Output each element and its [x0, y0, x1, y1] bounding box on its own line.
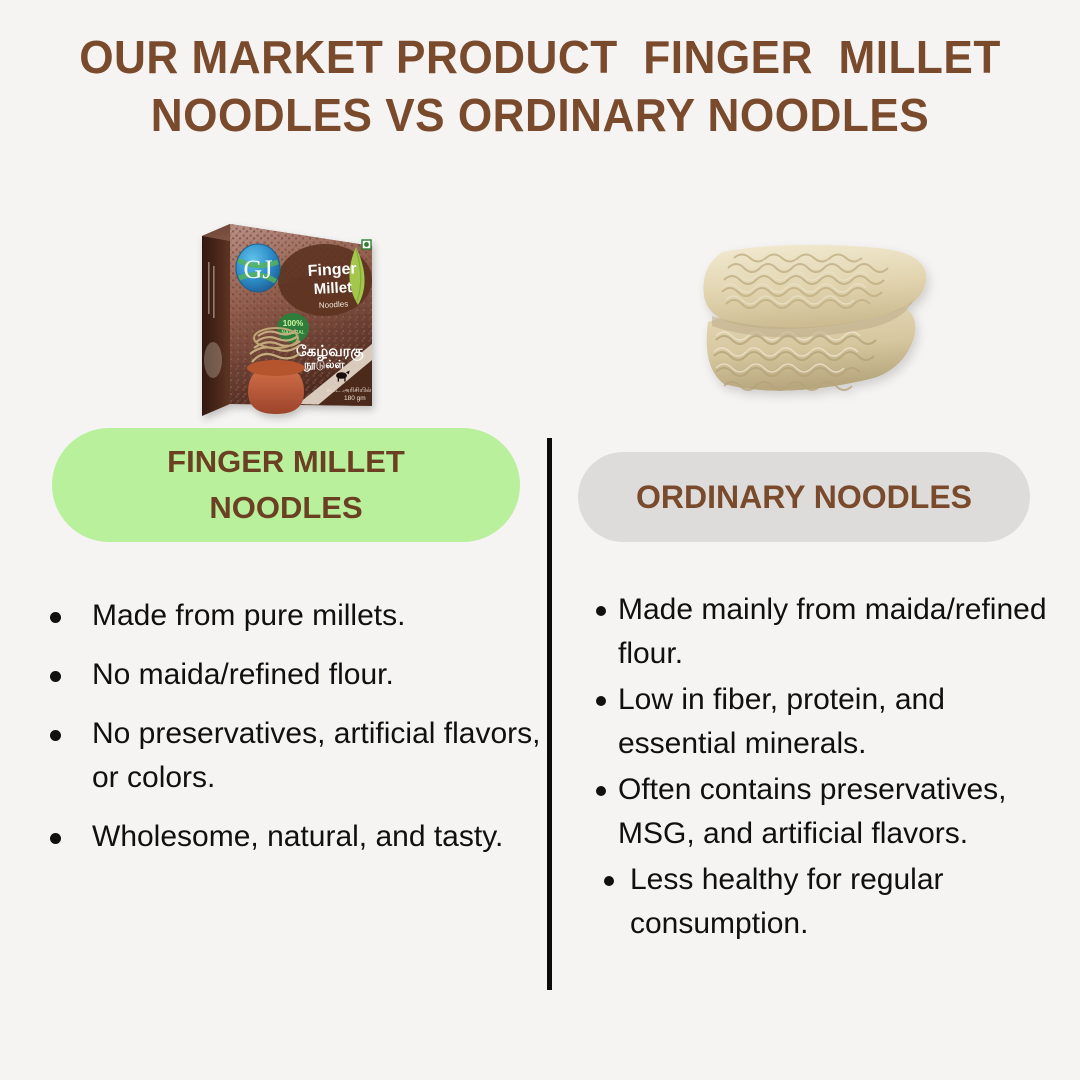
finger-millet-noodles-label-text: FINGER MILLET NOODLES [167, 439, 405, 531]
page-title-line-1: OUR MARKET PRODUCT FINGER MILLET [22, 28, 1059, 86]
svg-text:Noodles: Noodles [319, 299, 349, 310]
ordinary-noodles-label-pill: ORDINARY NOODLES [578, 452, 1030, 542]
svg-text:100%: 100% [283, 319, 303, 328]
svg-text:Finger: Finger [307, 260, 357, 280]
ordinary-noodles-drawbacks-list: Made mainly from maida/refined flour. Lo… [592, 588, 1062, 948]
list-item: Less healthy for regular consumption. [592, 858, 1062, 946]
list-item: Often contains preservatives, MSG, and a… [592, 768, 1062, 856]
page-title-line-2: NOODLES VS ORDINARY NOODLES [22, 86, 1059, 144]
svg-text:நூடுல்ள்: நூடுல்ள் [303, 359, 345, 372]
ordinary-noodles-label-text: ORDINARY NOODLES [636, 477, 972, 517]
svg-text:GJ: GJ [244, 255, 273, 284]
svg-text:Millet: Millet [313, 279, 352, 298]
svg-text:180 gm: 180 gm [344, 395, 366, 402]
column-divider [547, 438, 552, 990]
list-item: Wholesome, natural, and tasty. [36, 815, 546, 859]
list-item: No maida/refined flour. [36, 653, 546, 697]
list-item: No preservatives, artificial flavors, or… [36, 712, 546, 800]
list-item: Low in fiber, protein, and essential min… [592, 678, 1062, 766]
ordinary-noodle-blocks-image [684, 216, 956, 416]
finger-millet-product-box-image: GJ Finger Millet Noodles 100% NATURAL கே… [186, 192, 391, 430]
finger-millet-benefits-list: Made from pure millets. No maida/refined… [36, 594, 546, 874]
list-item: Made from pure millets. [36, 594, 546, 638]
svg-text:சுட்ட அரிசியில்: சுட்ட அரிசியில் [326, 387, 372, 394]
page-title: OUR MARKET PRODUCT FINGER MILLET NOODLES… [0, 28, 1080, 144]
finger-millet-noodles-label-pill: FINGER MILLET NOODLES [52, 428, 520, 542]
list-item: Made mainly from maida/refined flour. [592, 588, 1062, 676]
